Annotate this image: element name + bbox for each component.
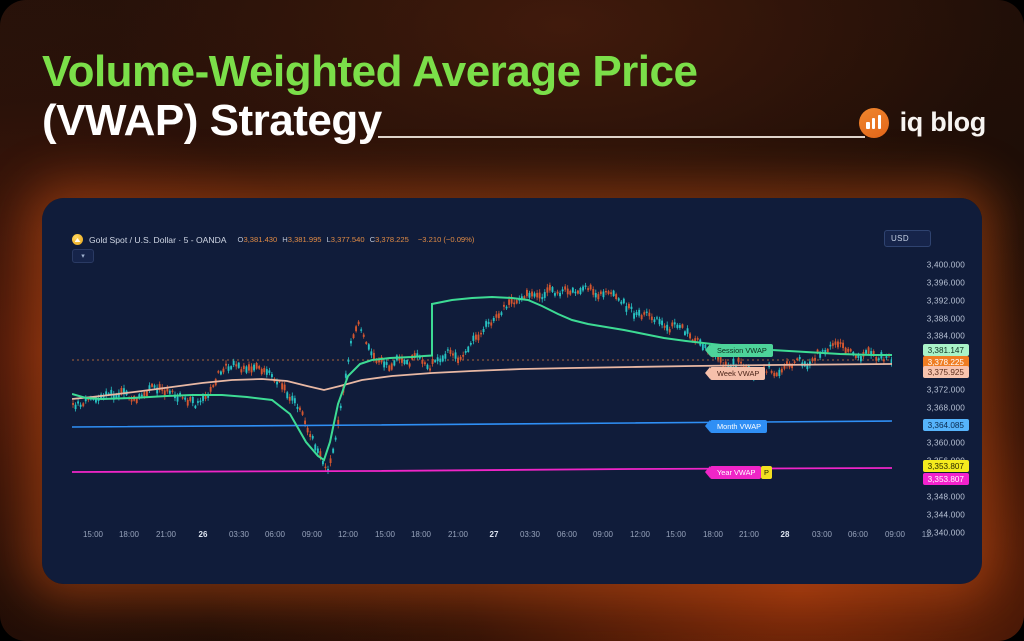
chart-panel: Gold Spot / U.S. Dollar · 5 - OANDA O3,3… — [42, 198, 982, 584]
time-tick: 21:00 — [739, 530, 759, 539]
gold-symbol-icon — [72, 234, 83, 245]
price-change: −3.210 (−0.09%) — [418, 235, 475, 244]
poster-page: Volume-Weighted Average Price (VWAP) Str… — [0, 0, 1024, 641]
time-tick: 28 — [781, 530, 790, 539]
time-tick: 12:00 — [338, 530, 358, 539]
price-tick: 3,348.000 — [927, 493, 965, 502]
time-tick: 06:00 — [265, 530, 285, 539]
month-vwap-price-badge: 3,364.085 — [923, 419, 969, 431]
price-tick: 3,396.000 — [927, 279, 965, 288]
vwap-label-year-vwap[interactable]: Year VWAP — [710, 466, 761, 479]
price-tick: 3,372.000 — [927, 386, 965, 395]
time-tick: 21:00 — [448, 530, 468, 539]
time-tick: 15:00 — [83, 530, 103, 539]
price-tick: 3,384.000 — [927, 332, 965, 341]
vwap-label-arrow — [705, 420, 710, 432]
time-tick: 03:30 — [229, 530, 249, 539]
ohlc-values: O3,381.430 H3,381.995 L3,377.540 C3,378.… — [238, 235, 409, 244]
page-title: Volume-Weighted Average Price (VWAP) Str… — [42, 50, 697, 144]
time-tick: 09:00 — [593, 530, 613, 539]
price-tick: 3,344.000 — [927, 511, 965, 520]
currency-button[interactable]: USD — [884, 230, 931, 247]
price-tick: 3,360.000 — [927, 439, 965, 448]
logo-text: iq blog — [900, 107, 986, 138]
time-scale[interactable]: 15:0018:0021:002603:3006:0009:0012:0015:… — [72, 530, 972, 550]
time-tick: 18:00 — [411, 530, 431, 539]
time-tick: 15:00 — [375, 530, 395, 539]
week-vwap-line — [72, 364, 892, 399]
time-tick: 12:00 — [630, 530, 650, 539]
vwap-label-month-vwap[interactable]: Month VWAP — [710, 420, 767, 433]
session-vwap-price-badge: 3,381.147 — [923, 344, 969, 356]
price-tick: 3,400.000 — [927, 261, 965, 270]
price-tick: 3,368.000 — [927, 404, 965, 413]
time-tick: 26 — [199, 530, 208, 539]
symbol-name[interactable]: Gold Spot / U.S. Dollar · 5 - OANDA — [89, 235, 227, 245]
vwap-label-session-vwap[interactable]: Session VWAP — [710, 344, 773, 357]
time-tick: 03:30 — [520, 530, 540, 539]
brand-logo: iq blog — [859, 107, 986, 138]
chart-symbol-header: Gold Spot / U.S. Dollar · 5 - OANDA O3,3… — [72, 234, 474, 245]
candle-series — [72, 283, 892, 474]
chevron-down-icon[interactable]: ▾ — [72, 249, 94, 263]
time-tick: 15:00 — [666, 530, 686, 539]
vwap-label-week-vwap[interactable]: Week VWAP — [710, 367, 765, 380]
time-tick: 09:00 — [885, 530, 905, 539]
time-tick: 27 — [490, 530, 499, 539]
price-tick: 3,388.000 — [927, 315, 965, 324]
time-tick: 09:00 — [302, 530, 322, 539]
vwap-label-arrow — [705, 466, 710, 478]
year-vwap-price-badge-magenta: 3,353.807 — [923, 473, 969, 485]
time-tick: 21:00 — [156, 530, 176, 539]
ohlc-high-value: 3,381.995 — [288, 235, 322, 244]
year-vwap-price-badge-yellow: 3,353.807 — [923, 460, 969, 472]
vwap-label-tag[interactable]: P — [761, 466, 772, 479]
time-tick: 18:00 — [703, 530, 723, 539]
session-vwap-line — [72, 297, 892, 460]
month-vwap-line — [72, 421, 892, 427]
time-tick: 06:00 — [848, 530, 868, 539]
title-divider — [378, 136, 865, 138]
vwap-label-arrow — [705, 344, 710, 356]
bar-chart-circle-icon — [859, 108, 889, 138]
ohlc-low-value: 3,377.540 — [331, 235, 365, 244]
time-tick: 11: — [922, 530, 933, 539]
price-scale[interactable]: 3,400.0003,396.0003,392.0003,388.0003,38… — [884, 264, 974, 530]
time-tick: 03:00 — [812, 530, 832, 539]
price-tick: 3,392.000 — [927, 297, 965, 306]
poster-header: Volume-Weighted Average Price (VWAP) Str… — [0, 0, 1024, 186]
week-vwap-price-badge: 3,375.925 — [923, 366, 969, 378]
time-tick: 18:00 — [119, 530, 139, 539]
title-line-1: Volume-Weighted Average Price — [42, 50, 697, 95]
time-tick: 06:00 — [557, 530, 577, 539]
vwap-label-arrow — [705, 367, 710, 379]
ohlc-open-value: 3,381.430 — [243, 235, 277, 244]
ohlc-close-value: 3,378.225 — [375, 235, 409, 244]
